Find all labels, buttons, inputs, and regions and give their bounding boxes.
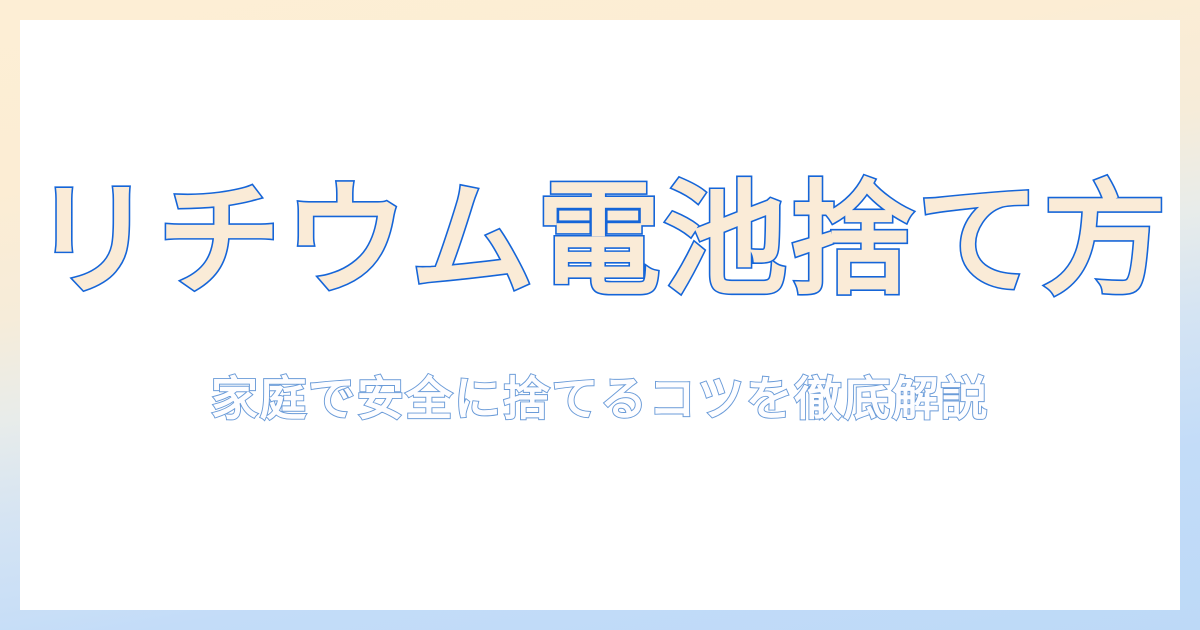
page-subtitle-container: 家庭で安全に捨てるコツを徹底解説 <box>20 373 1180 427</box>
hero-banner: リチウム電池捨て方 家庭で安全に捨てるコツを徹底解説 <box>0 0 1200 630</box>
page-title: リチウム電池捨て方 <box>31 175 1169 309</box>
content-card: リチウム電池捨て方 家庭で安全に捨てるコツを徹底解説 <box>20 20 1180 610</box>
page-title-container: リチウム電池捨て方 <box>20 175 1180 309</box>
page-subtitle: 家庭で安全に捨てるコツを徹底解説 <box>211 373 989 427</box>
